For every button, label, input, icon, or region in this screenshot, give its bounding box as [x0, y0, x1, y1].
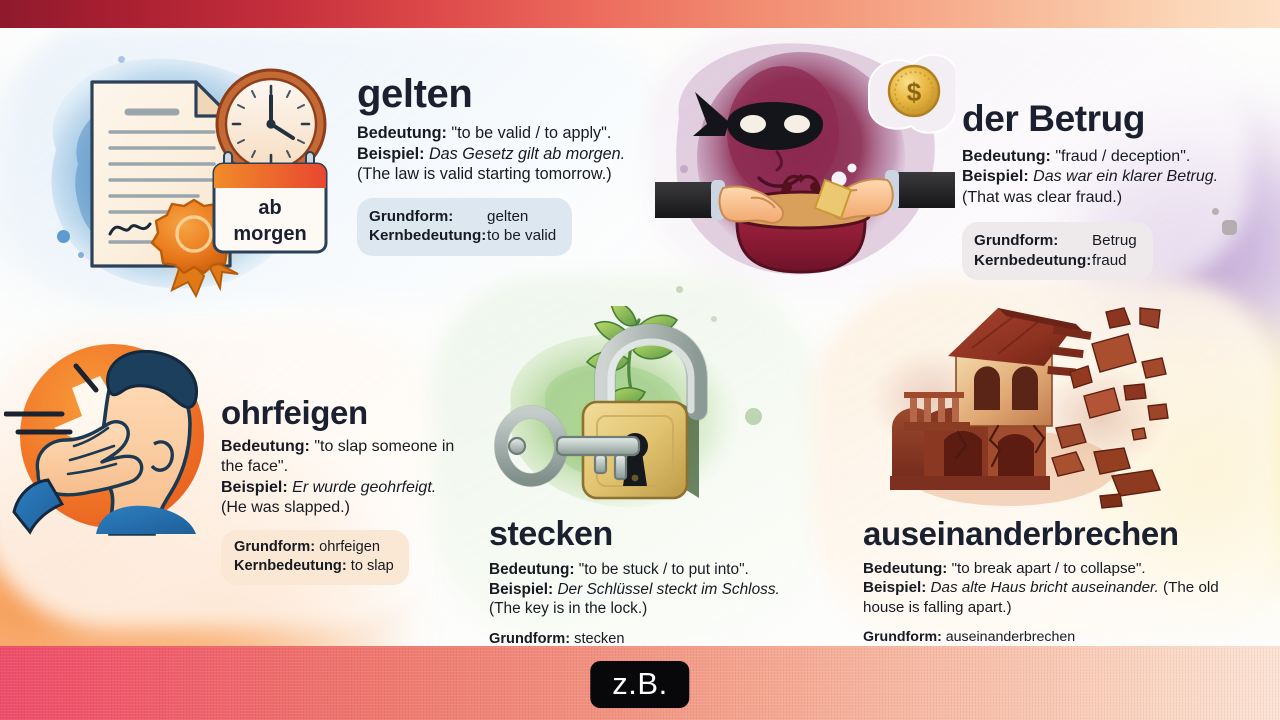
translation-line: (He was slapped.): [221, 498, 461, 518]
headword-betrug: der Betrug: [962, 100, 1242, 137]
kernbedeutung-row: Kernbedeutung:to be valid: [369, 226, 556, 246]
grundform-label: Grundform:: [369, 207, 487, 227]
decorative-dot: [676, 286, 683, 293]
headword-gelten: gelten: [357, 74, 647, 114]
beispiel-label: Beispiel:: [489, 581, 553, 598]
decorative-dot: [711, 316, 717, 322]
slide-root: ab morgen: [0, 0, 1280, 720]
grundform-pill-betrug: Grundform:Betrug Kernbedeutung:fraud: [962, 222, 1153, 281]
grundform-value: auseinanderbrechen: [946, 629, 1075, 645]
grundform-pill-gelten: Grundform:gelten Kernbedeutung:to be val…: [357, 198, 572, 257]
kernbedeutung-row: Kernbedeutung: to slap: [234, 557, 394, 576]
definition-block-betrug: Bedeutung: "fraud / deception". Beispiel…: [962, 147, 1242, 208]
zb-badge: z.B.: [590, 661, 689, 708]
beispiel-value: Das war ein klarer Betrug.: [1033, 168, 1218, 185]
beispiel-line: Beispiel: Das war ein klarer Betrug.: [962, 167, 1242, 187]
grundform-label: Grundform:: [489, 631, 570, 646]
grundform-label: Grundform:: [234, 539, 315, 555]
bedeutung-label: Bedeutung:: [863, 560, 947, 577]
grundform-label: Grundform:: [863, 629, 942, 645]
beispiel-label: Beispiel:: [863, 579, 926, 596]
translation-line: (The key is in the lock.): [489, 599, 789, 619]
kernbedeutung-label: Kernbedeutung:: [369, 226, 487, 246]
kernbedeutung-row: Kernbedeutung:fraud: [974, 251, 1137, 271]
beispiel-value: Er wurde geohrfeigt.: [292, 479, 436, 496]
translation-line: (That was clear fraud.): [962, 188, 1242, 208]
beispiel-line: Beispiel: Der Schlüssel steckt im Schlos…: [489, 580, 789, 600]
headword-stecken: stecken: [489, 517, 789, 551]
grundform-row: Grundform: ohrfeigen: [234, 538, 394, 557]
kernbedeutung-label: Kernbedeutung:: [234, 558, 347, 574]
bedeutung-line: Bedeutung: "to break apart / to collapse…: [863, 559, 1248, 578]
kernbedeutung-value: to be valid: [487, 227, 556, 244]
grundform-row: Grundform:gelten: [369, 207, 556, 227]
beispiel-value: Der Schlüssel steckt im Schloss.: [557, 581, 779, 598]
definition-block-auseinanderbrechen: Bedeutung: "to break apart / to collapse…: [863, 559, 1248, 617]
kernbedeutung-label: Kernbedeutung:: [974, 251, 1092, 271]
headword-ohrfeigen: ohrfeigen: [221, 396, 461, 429]
svg-text:ab: ab: [258, 197, 281, 219]
grundform-row: Grundform: stecken: [489, 630, 742, 646]
bedeutung-label: Bedeutung:: [962, 148, 1051, 165]
beispiel-label: Beispiel:: [221, 479, 288, 496]
masked-thief-purse-icon: $: [655, 32, 955, 297]
definition-block-gelten: Bedeutung: "to be valid / to apply". Bei…: [357, 123, 647, 185]
grundform-pill-auseinanderbrechen: Grundform: auseinanderbrechen Kernbedeut…: [863, 628, 1075, 646]
bedeutung-line: Bedeutung: "to be valid / to apply".: [357, 123, 647, 144]
translation-line: (The law is valid starting tomorrow.): [357, 164, 647, 185]
entry-gelten: gelten Bedeutung: "to be valid / to appl…: [357, 74, 647, 256]
definition-block-ohrfeigen: Bedeutung: "to slap someone in the face"…: [221, 437, 461, 518]
bedeutung-label: Bedeutung:: [357, 124, 447, 142]
decorative-dot: [680, 165, 688, 173]
bedeutung-line: Bedeutung: "to slap someone in the face"…: [221, 437, 461, 478]
grundform-value: Betrug: [1092, 232, 1137, 249]
beispiel-value: Das alte Haus bricht auseinander.: [931, 579, 1159, 596]
svg-text:morgen: morgen: [233, 223, 306, 245]
definition-block-stecken: Bedeutung: "to be stuck / to put into". …: [489, 560, 789, 619]
bedeutung-value: "to be stuck / to put into".: [579, 561, 749, 578]
beispiel-line: Beispiel: Das alte Haus bricht auseinand…: [863, 578, 1248, 617]
decorative-dot: [745, 408, 762, 425]
grundform-value: gelten: [487, 208, 528, 225]
headword-auseinanderbrechen: auseinanderbrechen: [863, 517, 1248, 550]
slap-face-icon: [4, 328, 214, 543]
grundform-row: Grundform:Betrug: [974, 231, 1137, 251]
entry-betrug: der Betrug Bedeutung: "fraud / deception…: [962, 100, 1242, 280]
grundform-pill-ohrfeigen: Grundform: ohrfeigen Kernbedeutung: to s…: [221, 530, 409, 585]
bedeutung-line: Bedeutung: "to be stuck / to put into".: [489, 560, 789, 580]
grundform-row: Grundform: auseinanderbrechen: [863, 628, 1075, 646]
kernbedeutung-value: to slap: [351, 558, 394, 574]
beispiel-value: Das Gesetz gilt ab morgen.: [429, 145, 625, 163]
entry-stecken: stecken Bedeutung: "to be stuck / to put…: [489, 517, 789, 646]
bedeutung-line: Bedeutung: "fraud / deception".: [962, 147, 1242, 167]
grundform-value: stecken: [574, 631, 624, 646]
bedeutung-value: "fraud / deception".: [1055, 148, 1190, 165]
bedeutung-value: "to be valid / to apply".: [451, 124, 611, 142]
content-canvas: ab morgen: [0, 28, 1280, 646]
decorative-dot: [57, 230, 70, 243]
bedeutung-label: Bedeutung:: [221, 438, 310, 455]
key-padlock-vine-icon: [487, 306, 767, 526]
top-gradient-band: [0, 0, 1280, 28]
document-clock-calendar-icon: ab morgen: [18, 38, 348, 308]
bedeutung-value: "to break apart / to collapse".: [952, 560, 1146, 577]
grundform-value: ohrfeigen: [319, 539, 380, 555]
entry-ohrfeigen: ohrfeigen Bedeutung: "to slap someone in…: [221, 396, 461, 585]
decorative-dot: [78, 252, 84, 258]
beispiel-line: Beispiel: Das Gesetz gilt ab morgen.: [357, 144, 647, 165]
beispiel-line: Beispiel: Er wurde geohrfeigt.: [221, 478, 461, 498]
beispiel-label: Beispiel:: [962, 168, 1029, 185]
crumbling-house-icon: [848, 300, 1188, 520]
grundform-pill-stecken: Grundform: stecken Kernbedeutung: to be …: [489, 630, 742, 646]
bedeutung-label: Bedeutung:: [489, 561, 575, 578]
grundform-label: Grundform:: [974, 231, 1092, 251]
kernbedeutung-value: fraud: [1092, 252, 1127, 269]
decorative-dot: [118, 56, 125, 63]
svg-text:$: $: [907, 77, 922, 107]
entry-auseinanderbrechen: auseinanderbrechen Bedeutung: "to break …: [863, 517, 1248, 646]
beispiel-label: Beispiel:: [357, 145, 424, 163]
